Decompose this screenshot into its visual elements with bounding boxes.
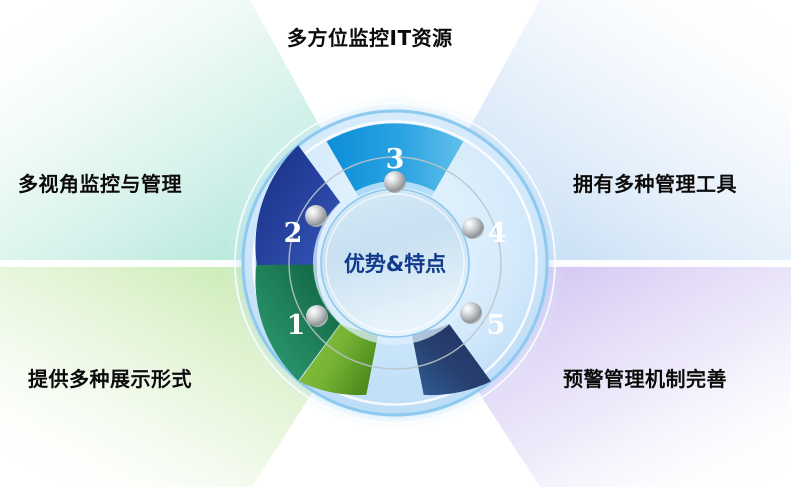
- segment-number-4: 4: [488, 218, 507, 249]
- bullet-4: [462, 217, 484, 239]
- segment-number-5: 5: [487, 310, 506, 341]
- bullet-1: [306, 305, 328, 327]
- label-top: 多方位监控IT资源: [287, 22, 453, 51]
- radial-wheel-diagram: 优势&特点 1 2 3 4 5: [0, 0, 791, 487]
- segment-number-2: 2: [284, 218, 303, 249]
- wheel: 优势&特点 1 2 3 4 5: [225, 93, 565, 433]
- center-label: 优势&特点: [344, 252, 446, 276]
- label-left: 多视角监控与管理: [18, 168, 182, 197]
- segment-number-1: 1: [287, 310, 306, 341]
- bullet-5: [460, 302, 482, 324]
- bullet-2: [305, 205, 327, 227]
- bullet-3: [384, 171, 406, 193]
- label-bottom-left: 提供多种展示形式: [28, 363, 192, 392]
- label-right: 拥有多种管理工具: [573, 168, 737, 197]
- segment-number-3: 3: [386, 144, 405, 175]
- label-bottom-right: 预警管理机制完善: [563, 363, 727, 392]
- infographic-canvas: 优势&特点 1 2 3 4 5 多方位监控IT资源 多视角监控与管理 提供多种展…: [0, 0, 791, 487]
